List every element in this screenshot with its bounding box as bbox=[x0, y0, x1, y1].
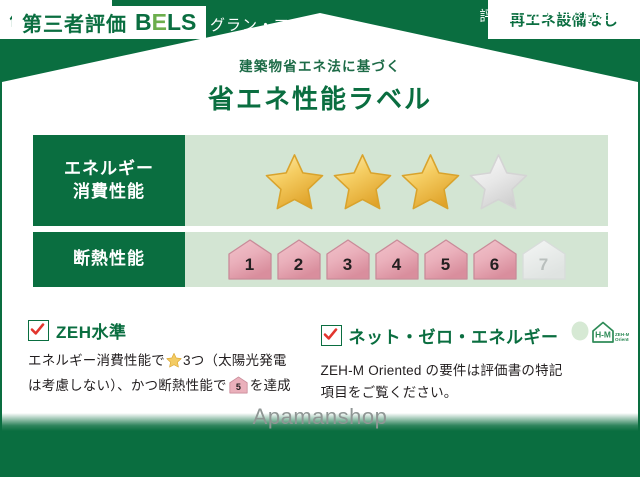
evaluation-info: 評価日 2025年8月25日 234bbd7e-8d4a-46a2 bbox=[479, 6, 626, 40]
svg-text:H-M: H-M bbox=[595, 330, 611, 340]
star-empty-4-icon bbox=[467, 151, 530, 211]
inline-star-icon bbox=[166, 356, 182, 371]
grade-level-4-value: 4 bbox=[374, 255, 420, 275]
zeh-standard-column: ZEH水準 エネルギー消費性能で3つ（太陽光発電 は考慮しない）、かつ断熱性能で… bbox=[28, 318, 321, 405]
grade-level-1-value: 1 bbox=[227, 255, 273, 275]
label-subtitle: 建築物省エネ法に基づく bbox=[0, 55, 640, 75]
bels-letter-b: B bbox=[135, 9, 152, 35]
energy-performance-label: 住宅（住棟） 再エネ設備なし 建築物省エネ法に基づく 省エネ性能ラベル エネルギ… bbox=[0, 0, 640, 477]
grade-level-2-value: 2 bbox=[276, 255, 322, 275]
insulation-label-line1: 断熱性能 bbox=[73, 248, 145, 271]
star-rating bbox=[263, 151, 530, 211]
zeh-standard-text-star-count: 3つ（太陽光発電 bbox=[183, 353, 287, 368]
energy-performance-value-cell bbox=[185, 135, 608, 226]
net-zero-energy-text-line2: 項目をご覧ください。 bbox=[321, 382, 604, 404]
bels-en-label: BELS bbox=[135, 9, 196, 36]
grade-level-1: 1 bbox=[227, 238, 273, 281]
grade-level-2: 2 bbox=[276, 238, 322, 281]
label-title-block: 建築物省エネ法に基づく 省エネ性能ラベル bbox=[0, 55, 640, 116]
evaluation-date-value: 2025年8月25日 bbox=[526, 8, 626, 24]
grade-level-5-value: 5 bbox=[423, 255, 469, 275]
grade-level-5: 5 bbox=[423, 238, 469, 281]
zeh-info-section: ZEH水準 エネルギー消費性能で3つ（太陽光発電 は考慮しない）、かつ断熱性能で… bbox=[28, 318, 613, 405]
net-zero-energy-column: ネット・ゼロ・エネルギー H-M ZEH-M Oriented ZEH-M Or… bbox=[321, 318, 614, 405]
energy-performance-label-cell: エネルギー 消費性能 bbox=[33, 135, 185, 226]
net-zero-energy-body: ZEH-M Oriented の要件は評価書の特記 項目をご覧ください。 bbox=[321, 360, 604, 405]
insulation-performance-label-cell: 断熱性能 bbox=[33, 232, 185, 287]
energy-label-line2: 消費性能 bbox=[73, 181, 145, 204]
inline-grade-badge: 5 bbox=[229, 382, 248, 397]
star-filled-2-icon bbox=[331, 151, 394, 211]
building-name: グラン・マーレ bbox=[210, 14, 322, 35]
zeh-standard-body: エネルギー消費性能で3つ（太陽光発電 は考慮しない）、かつ断熱性能で5を達成 bbox=[28, 350, 311, 402]
net-zero-energy-text-line1: ZEH-M Oriented の要件は評価書の特記 bbox=[321, 360, 604, 382]
zeh-standard-text-part1: エネルギー消費性能で bbox=[28, 353, 165, 368]
evaluation-id: 234bbd7e-8d4a-46a2 bbox=[479, 29, 626, 40]
checkmark-icon bbox=[321, 325, 342, 346]
grade-level-3: 3 bbox=[325, 238, 371, 281]
zeh-standard-text-part3: を達成 bbox=[250, 378, 291, 393]
svg-text:5: 5 bbox=[236, 382, 241, 392]
evaluation-date-label: 評価日 bbox=[479, 8, 522, 24]
performance-panel: エネルギー 消費性能 bbox=[33, 135, 608, 293]
net-zero-energy-title: ネット・ゼロ・エネルギー bbox=[349, 323, 559, 348]
insulation-grade-scale: 1 2 3 bbox=[227, 238, 567, 281]
bels-badge: 第三者評価 BELS bbox=[12, 6, 206, 39]
grade-level-4: 4 bbox=[374, 238, 420, 281]
checkmark-icon bbox=[28, 320, 49, 341]
star-filled-1-icon bbox=[263, 151, 326, 211]
footer-bar bbox=[0, 431, 640, 477]
grade-level-6: 6 bbox=[472, 238, 518, 281]
insulation-performance-row: 断熱性能 bbox=[33, 232, 608, 287]
zeh-standard-title: ZEH水準 bbox=[56, 318, 127, 343]
grade-level-6-value: 6 bbox=[472, 255, 518, 275]
footer-gradient bbox=[0, 413, 640, 431]
zeh-standard-header: ZEH水準 bbox=[28, 318, 311, 343]
energy-performance-row: エネルギー 消費性能 bbox=[33, 135, 608, 226]
grade-level-7: 7 bbox=[521, 238, 567, 281]
net-zero-energy-header: ネット・ゼロ・エネルギー H-M ZEH-M Oriented bbox=[321, 318, 604, 353]
bels-letter-ls: LS bbox=[167, 9, 196, 35]
zeh-m-oriented-logo-icon: H-M ZEH-M Oriented bbox=[569, 318, 629, 353]
energy-label-line1: エネルギー bbox=[64, 158, 154, 181]
zeh-standard-text-part2: は考慮しない）、かつ断熱性能で bbox=[28, 378, 227, 393]
bels-jp-label: 第三者評価 bbox=[22, 8, 127, 37]
svg-text:Oriented: Oriented bbox=[615, 337, 629, 342]
evaluation-date-row: 評価日 2025年8月25日 bbox=[479, 6, 626, 26]
grade-level-7-value: 7 bbox=[521, 255, 567, 275]
star-filled-3-icon bbox=[399, 151, 462, 211]
insulation-performance-value-cell: 1 2 3 bbox=[185, 232, 608, 287]
grade-level-3-value: 3 bbox=[325, 255, 371, 275]
label-title: 省エネ性能ラベル bbox=[0, 79, 640, 116]
bels-letter-e: E bbox=[152, 9, 167, 35]
